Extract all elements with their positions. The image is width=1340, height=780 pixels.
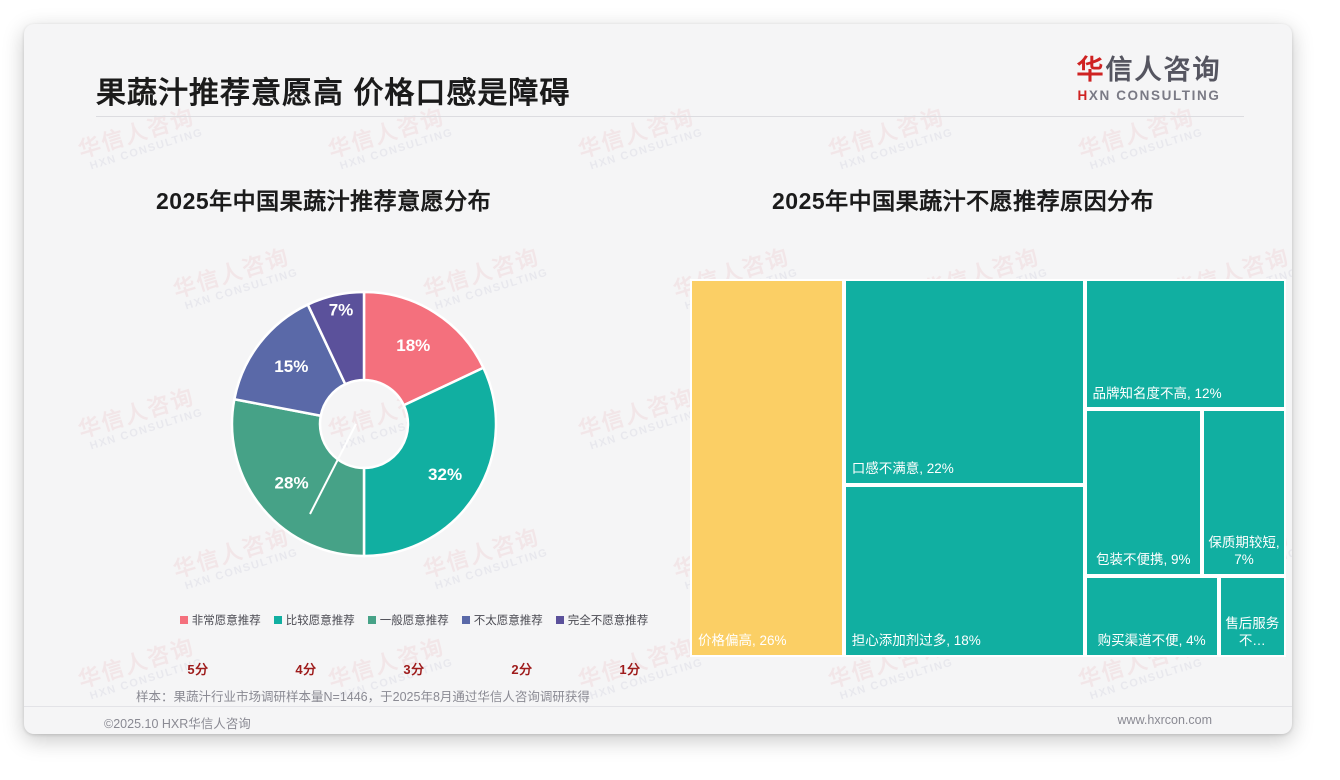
- treemap-cell-label: 品牌知名度不高, 12%: [1093, 386, 1278, 403]
- donut-slice-label: 7%: [329, 300, 354, 319]
- treemap-cell[interactable]: 价格偏高, 26%: [690, 279, 844, 657]
- donut-slice-label: 18%: [396, 336, 430, 355]
- treemap-cell[interactable]: 购买渠道不便, 4%: [1085, 576, 1219, 657]
- slide-footer: ©2025.10 HXR华信人咨询 www.hxrcon.com: [24, 707, 1292, 734]
- score-label-row: 5分4分3分2分1分: [144, 659, 684, 678]
- treemap-cell-label: 担心添加剂过多, 18%: [852, 633, 1077, 650]
- legend-item[interactable]: 不太愿意推荐: [462, 612, 543, 628]
- slide-header: 果蔬汁推荐意愿高 价格口感是障碍 华信人咨询 HXN CONSULTING: [24, 24, 1292, 119]
- treemap-cell-label: 保质期较短, 7%: [1207, 535, 1281, 569]
- donut-slice-label: 28%: [275, 473, 309, 492]
- header-divider: [96, 116, 1244, 117]
- legend-item[interactable]: 非常愿意推荐: [180, 612, 261, 628]
- logo-cn-rest: 信人咨询: [1106, 55, 1222, 85]
- legend-swatch-icon: [274, 616, 282, 624]
- legend-label: 不太愿意推荐: [474, 612, 543, 628]
- footer-copyright: ©2025.10 HXR华信人咨询: [104, 713, 251, 732]
- charts-area: 2025年中国果蔬汁推荐意愿分布 2025年中国果蔬汁不愿推荐原因分布 18%3…: [24, 124, 1292, 684]
- donut-svg: 18%32%28%15%7%: [186, 248, 542, 588]
- treemap-cell[interactable]: 口感不满意, 22%: [844, 279, 1085, 485]
- score-label: 2分: [511, 659, 532, 678]
- legend-swatch-icon: [368, 616, 376, 624]
- treemap-cell[interactable]: 包装不便携, 9%: [1085, 409, 1202, 575]
- source-footnote: 样本：果蔬汁行业市场调研样本量N=1446，于2025年8月通过华信人咨询调研获…: [136, 686, 590, 705]
- score-label: 4分: [295, 659, 316, 678]
- legend-label: 完全不愿意推荐: [568, 612, 649, 628]
- page-title: 果蔬汁推荐意愿高 价格口感是障碍: [96, 68, 570, 112]
- treemap-cell-label: 价格偏高, 26%: [698, 633, 836, 650]
- slide-card: 华信人咨询HXN CONSULTING华信人咨询HXN CONSULTING华信…: [24, 24, 1292, 734]
- treemap-cell[interactable]: 品牌知名度不高, 12%: [1085, 279, 1286, 409]
- score-label: 3分: [403, 659, 424, 678]
- treemap-cell-label: 购买渠道不便, 4%: [1090, 633, 1214, 650]
- legend-label: 非常愿意推荐: [192, 612, 261, 628]
- legend-item[interactable]: 完全不愿意推荐: [556, 612, 649, 628]
- logo-chinese: 华信人咨询: [1054, 56, 1244, 86]
- brand-logo: 华信人咨询 HXN CONSULTING: [1054, 56, 1244, 103]
- treemap-cell-label: 口感不满意, 22%: [852, 461, 1077, 478]
- legend-swatch-icon: [556, 616, 564, 624]
- donut-slice-label: 15%: [274, 357, 308, 376]
- treemap-cell[interactable]: 保质期较短, 7%: [1202, 409, 1286, 575]
- score-label: 1分: [619, 659, 640, 678]
- treemap-cell[interactable]: 担心添加剂过多, 18%: [844, 485, 1085, 657]
- legend-swatch-icon: [180, 616, 188, 624]
- logo-cn-first: 华: [1077, 55, 1106, 85]
- footer-website: www.hxrcon.com: [1118, 713, 1212, 727]
- logo-en-first: H: [1078, 88, 1089, 103]
- legend-label: 比较愿意推荐: [286, 612, 355, 628]
- treemap-cell-label: 包装不便携, 9%: [1090, 552, 1197, 569]
- legend-item[interactable]: 比较愿意推荐: [274, 612, 355, 628]
- donut-chart-title: 2025年中国果蔬汁推荐意愿分布: [156, 182, 491, 216]
- legend-label: 一般愿意推荐: [380, 612, 449, 628]
- treemap-chart-title: 2025年中国果蔬汁不愿推荐原因分布: [772, 182, 1154, 216]
- score-label: 5分: [187, 659, 208, 678]
- treemap-chart: 价格偏高, 26%口感不满意, 22%担心添加剂过多, 18%品牌知名度不高, …: [690, 279, 1286, 657]
- donut-chart: 18%32%28%15%7%: [186, 248, 542, 588]
- donut-legend: 非常愿意推荐比较愿意推荐一般愿意推荐不太愿意推荐完全不愿意推荐: [144, 612, 684, 628]
- treemap-cell-label: 售后服务不…: [1224, 616, 1281, 650]
- logo-en-rest: XN CONSULTING: [1089, 88, 1221, 103]
- treemap-cell[interactable]: 售后服务不…: [1219, 576, 1286, 657]
- legend-swatch-icon: [462, 616, 470, 624]
- donut-slice[interactable]: [364, 368, 496, 556]
- legend-item[interactable]: 一般愿意推荐: [368, 612, 449, 628]
- logo-english: HXN CONSULTING: [1054, 88, 1244, 103]
- donut-slice-label: 32%: [428, 465, 462, 484]
- donut-slice-group: [232, 292, 496, 556]
